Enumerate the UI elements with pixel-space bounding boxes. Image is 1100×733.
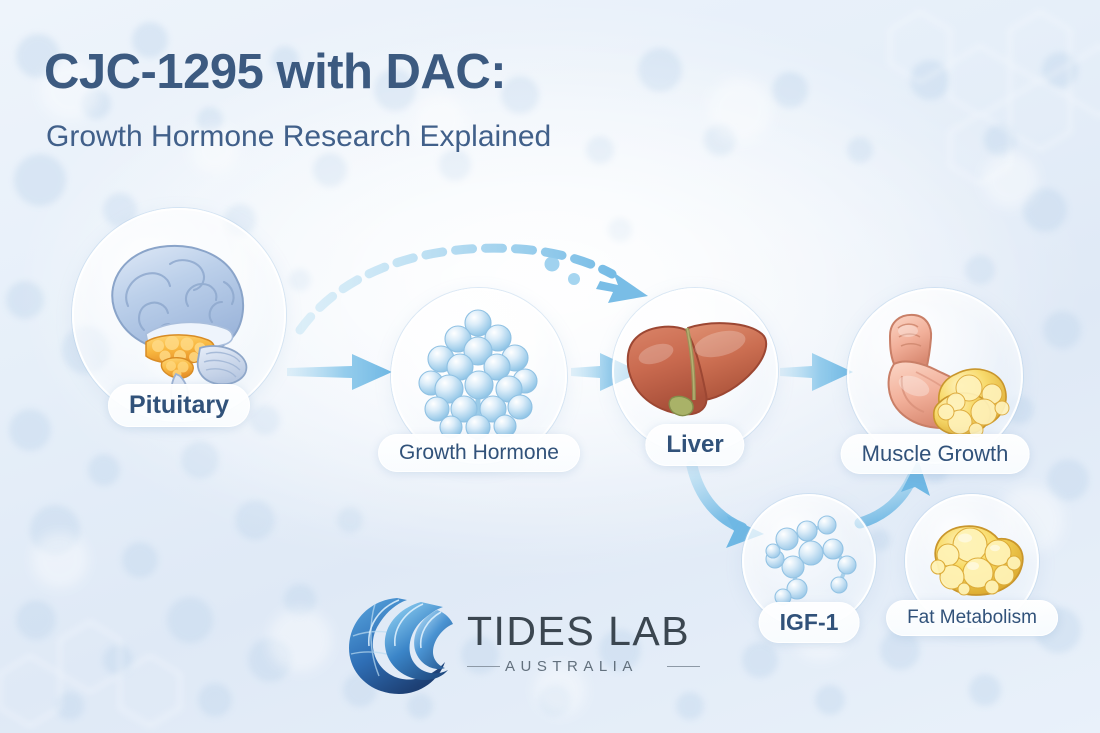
flow-node-growth-hormone[interactable]: Growth Hormone bbox=[391, 288, 567, 464]
node-label-igf1: IGF-1 bbox=[759, 602, 860, 643]
flow-node-igf1[interactable]: IGF-1 bbox=[742, 494, 876, 628]
flow-node-muscle-growth[interactable]: Muscle Growth bbox=[847, 288, 1023, 464]
logo-wordmark: TIDES LAB bbox=[467, 608, 690, 655]
logo-rule-left bbox=[467, 666, 500, 667]
node-label-liver: Liver bbox=[645, 424, 744, 466]
arrow-liver-to-muscle-growth bbox=[780, 353, 853, 391]
infographic-canvas: CJC-1295 with DAC: Growth Hormone Resear… bbox=[0, 0, 1100, 733]
page-title: CJC-1295 with DAC: bbox=[44, 44, 506, 100]
arrow-pituitary-to-growth-hormone bbox=[287, 354, 392, 390]
logo-tagline: AUSTRALIA bbox=[505, 658, 638, 675]
node-label-muscle-growth: Muscle Growth bbox=[841, 434, 1030, 474]
flow-node-liver[interactable]: Liver bbox=[612, 288, 778, 454]
flow-node-pituitary[interactable]: Pituitary bbox=[72, 208, 286, 422]
flow-node-fat-metabolism[interactable]: Fat Metabolism bbox=[905, 494, 1039, 628]
node-label-fat-metabolism: Fat Metabolism bbox=[886, 600, 1058, 636]
node-label-growth-hormone: Growth Hormone bbox=[378, 434, 580, 472]
logo-rule-right bbox=[667, 666, 700, 667]
brand-logo[interactable]: TIDES LAB AUSTRALIA bbox=[345, 592, 725, 700]
node-label-pituitary: Pituitary bbox=[108, 384, 250, 427]
page-subtitle: Growth Hormone Research Explained bbox=[46, 120, 551, 154]
wave-globe-icon bbox=[345, 594, 457, 698]
